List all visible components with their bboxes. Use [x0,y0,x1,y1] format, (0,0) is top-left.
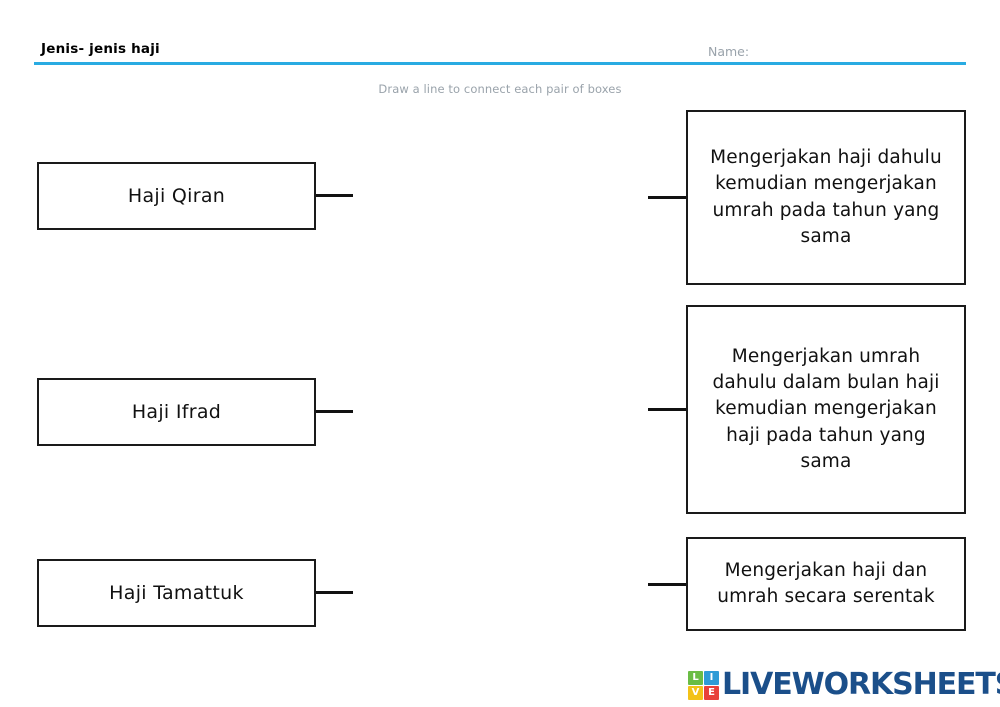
connector-handle-left-1[interactable] [316,410,353,413]
match-box-right-2-label: Mengerjakan haji dan umrah secara serent… [688,558,964,611]
match-box-right-1-label: Mengerjakan umrah dahulu dalam bulan haj… [688,344,964,475]
connector-handle-right-1[interactable] [648,408,686,411]
logo-tile-l-icon: L [688,671,703,685]
match-box-left-1-label: Haji Ifrad [122,399,231,426]
logo-tile-e-icon: E [704,686,719,700]
match-box-left-0-label: Haji Qiran [118,183,235,210]
match-box-left-0[interactable]: Haji Qiran [37,162,316,230]
logo-tile-i-icon: I [704,671,719,685]
connector-handle-right-2[interactable] [648,583,686,586]
matching-exercise-area: Haji Qiran Haji Ifrad Haji Tamattuk Meng… [0,0,1000,707]
liveworksheets-logo-tiles: L I V E [688,671,719,700]
match-box-left-2-label: Haji Tamattuk [99,580,254,607]
match-box-left-2[interactable]: Haji Tamattuk [37,559,316,627]
connector-handle-left-2[interactable] [316,591,353,594]
match-box-left-1[interactable]: Haji Ifrad [37,378,316,446]
match-box-right-0-label: Mengerjakan haji dahulu kemudian mengerj… [688,145,964,250]
logo-tile-v-icon: V [688,686,703,700]
liveworksheets-logo: L I V E LIVEWORKSHEETS [688,666,1000,704]
liveworksheets-wordmark: LIVEWORKSHEETS [722,670,1000,700]
match-box-right-2[interactable]: Mengerjakan haji dan umrah secara serent… [686,537,966,631]
connector-handle-left-0[interactable] [316,194,353,197]
match-box-right-1[interactable]: Mengerjakan umrah dahulu dalam bulan haj… [686,305,966,514]
match-box-right-0[interactable]: Mengerjakan haji dahulu kemudian mengerj… [686,110,966,285]
connector-handle-right-0[interactable] [648,196,686,199]
